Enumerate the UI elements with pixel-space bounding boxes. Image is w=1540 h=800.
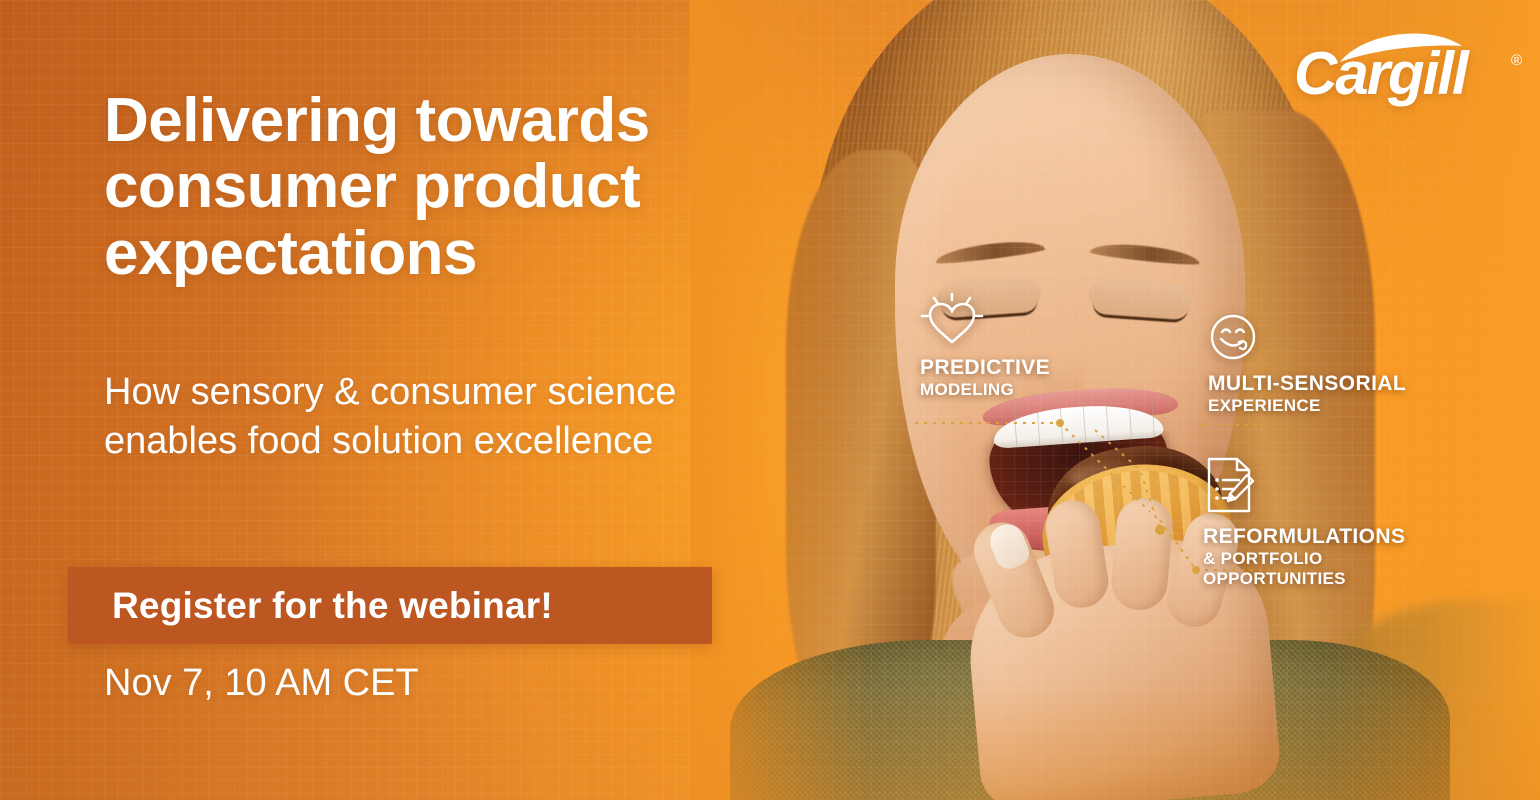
headline-line-2: consumer product xyxy=(104,154,804,220)
webinar-date: Nov 7, 10 AM CET xyxy=(104,662,419,705)
register-button-label: Register for the webinar! xyxy=(68,585,553,627)
content-column: Delivering towards consumer product expe… xyxy=(104,0,784,800)
heart-lightbulb-icon xyxy=(920,292,984,346)
photo-fade-bottom xyxy=(690,680,1540,800)
callout-title: REFORMULATIONS xyxy=(1203,525,1453,549)
headline-line-3: expectations xyxy=(104,221,804,287)
callout-title: PREDICTIVE xyxy=(920,356,1100,380)
page-title: Delivering towards consumer product expe… xyxy=(104,88,804,287)
cargill-logo[interactable]: Cargill ® xyxy=(1294,28,1524,114)
callout-predictive: PREDICTIVE MODELING xyxy=(920,292,1100,400)
clipboard-pencil-icon xyxy=(1203,455,1259,515)
callout-sensorial: MULTI-SENSORIAL EXPERIENCE xyxy=(1208,312,1418,416)
cargill-wordmark: Cargill xyxy=(1294,44,1467,104)
callout-reformulations: REFORMULATIONS & PORTFOLIO OPPORTUNITIES xyxy=(1203,455,1453,589)
callout-subtitle: EXPERIENCE xyxy=(1208,396,1418,416)
webinar-banner: Cargill ® PREDICTIVE MODELING xyxy=(0,0,1540,800)
register-button[interactable]: Register for the webinar! xyxy=(68,567,712,644)
callout-subtitle: & PORTFOLIO OPPORTUNITIES xyxy=(1203,549,1453,590)
page-subtitle: How sensory & consumer science enables f… xyxy=(104,368,794,465)
callout-subtitle: MODELING xyxy=(920,380,1100,400)
callout-title: MULTI-SENSORIAL xyxy=(1208,372,1418,396)
registered-mark: ® xyxy=(1511,52,1522,69)
subhead-line-1: How sensory & consumer science xyxy=(104,368,794,417)
smiley-tongue-icon xyxy=(1208,312,1258,362)
subhead-line-2: enables food solution excellence xyxy=(104,417,794,466)
headline-line-1: Delivering towards xyxy=(104,88,804,154)
